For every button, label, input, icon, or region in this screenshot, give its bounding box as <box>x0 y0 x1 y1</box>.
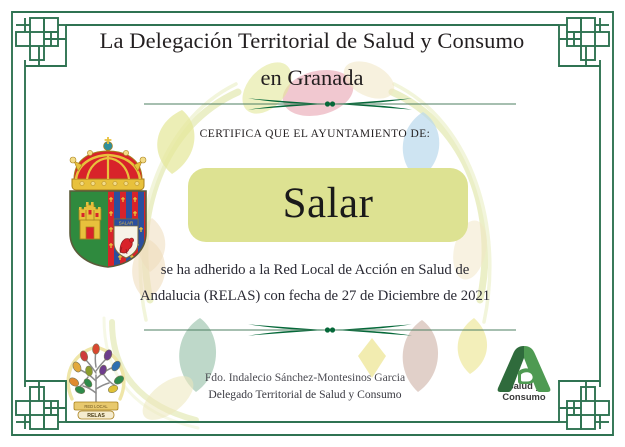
leaf-divider-top <box>140 92 520 116</box>
certificate-title-line-1: La Delegación Territorial de Salud y Con… <box>62 30 562 53</box>
certifies-label: CERTIFICA QUE EL AYUNTAMIENTO DE: <box>150 128 480 140</box>
certificate-page: La Delegación Territorial de Salud y Con… <box>0 0 625 447</box>
certificate-title-line-2: en Granada <box>62 67 562 90</box>
relas-base: RED LOCAL RELAS <box>74 402 118 419</box>
leaf-divider-bottom <box>140 318 520 342</box>
municipality-name-box: Salar <box>188 168 468 242</box>
signature-line-2: Delegado Territorial de Salud y Consumo <box>140 388 470 401</box>
svg-text:SALAR: SALAR <box>119 221 133 226</box>
relas-base-line-1: RED LOCAL <box>84 404 108 409</box>
leaf-yellow <box>107 384 119 394</box>
crown-icon <box>70 137 146 190</box>
leaf-blue <box>110 360 122 373</box>
signature-line-1: Fdo. Indalecio Sánchez-Montesinos Garcia <box>140 371 470 384</box>
body-text-line-2: Andalucia (RELAS) con fecha de 27 de Dic… <box>95 288 535 305</box>
shield-icon: SALAR <box>70 191 146 269</box>
municipality-name: Salar <box>283 182 374 225</box>
relas-tree-logo-icon: RED LOCAL RELAS <box>58 337 134 423</box>
leaf-red2 <box>92 344 100 355</box>
escudo-salar-icon: SALAR <box>56 135 160 271</box>
body-text-line-1: se ha adherido a la Red Local de Acción … <box>95 262 535 279</box>
relas-base-line-2: RELAS <box>87 413 105 419</box>
junta-de-andalucia-a-icon <box>488 342 560 404</box>
inescutcheon-lion: SALAR <box>114 219 138 258</box>
